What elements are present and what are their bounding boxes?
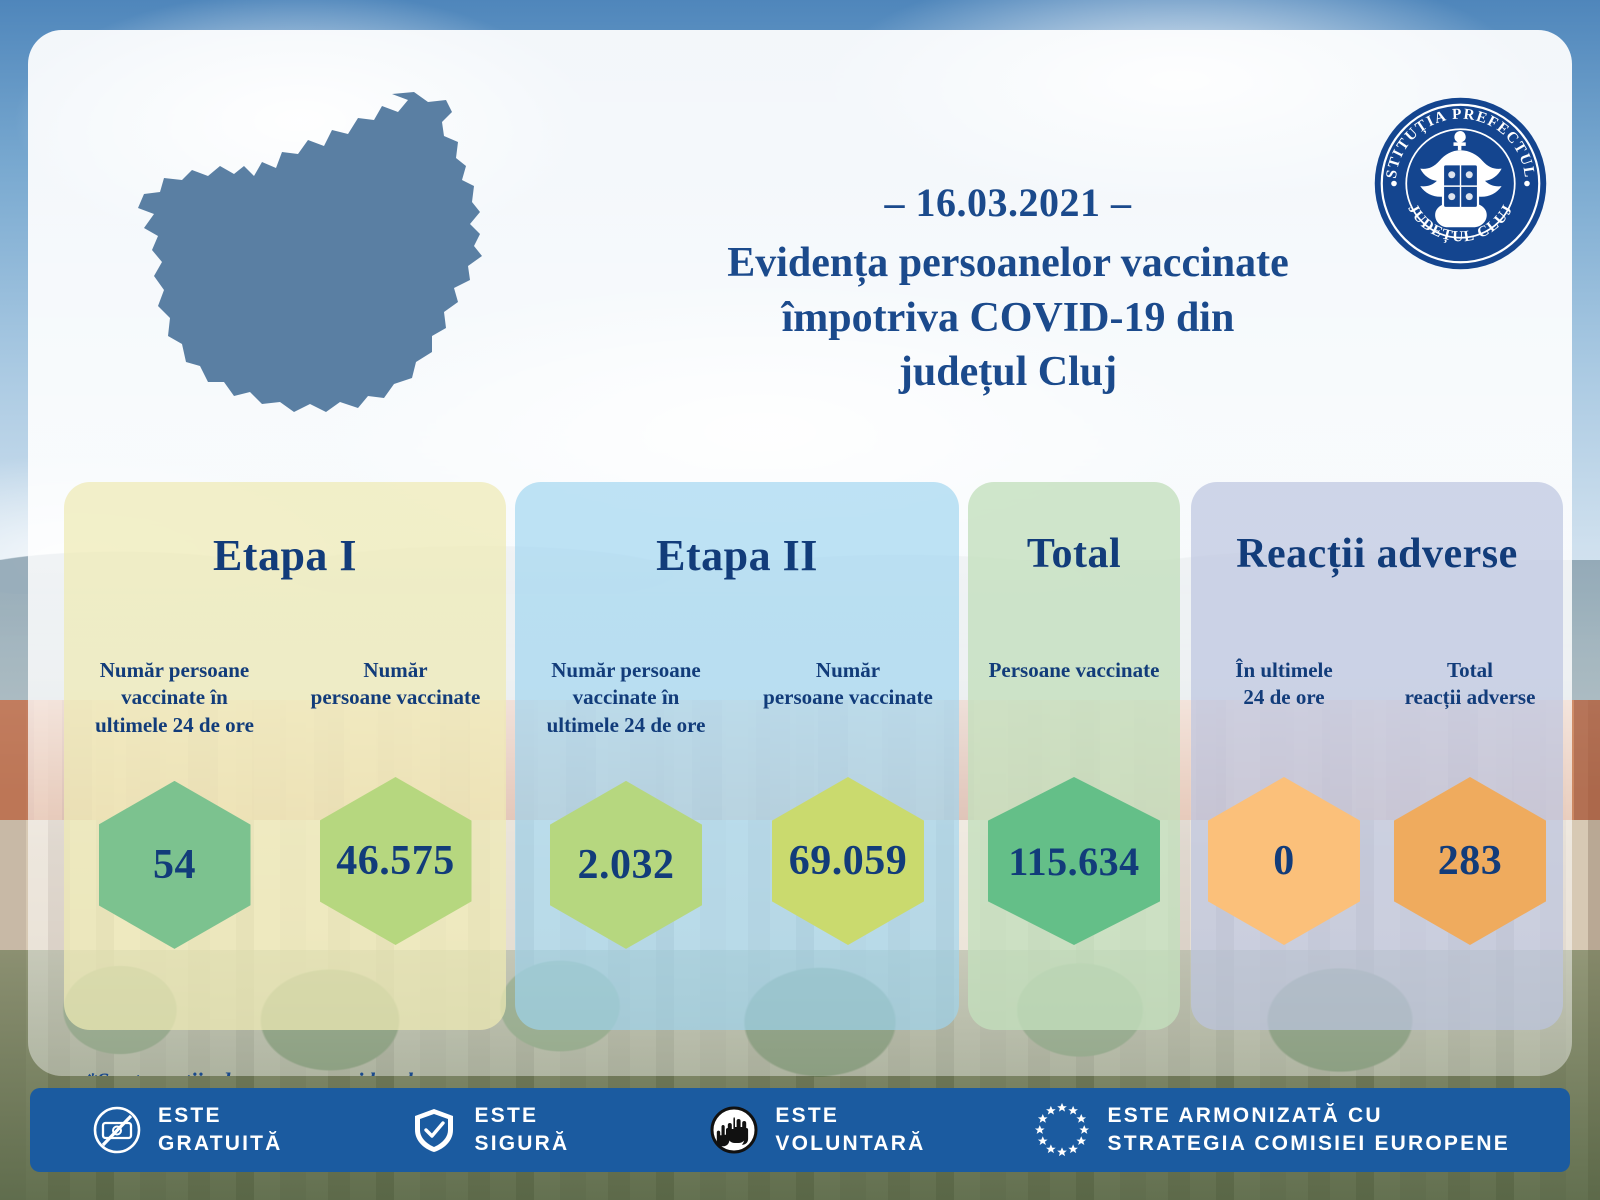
metric: În ultimele 24 de ore 0: [1191, 657, 1377, 945]
card-metrics: În ultimele 24 de ore 0 Total reacții ad…: [1191, 657, 1563, 945]
banner-item-label: ESTE SIGURĂ: [475, 1102, 570, 1159]
card-etapa-1: Etapa I Număr persoane vaccinate în ulti…: [64, 482, 506, 1030]
banner-item-sigura: ESTE SIGURĂ: [409, 1102, 570, 1159]
banknote-crossed-icon: [92, 1105, 142, 1155]
metric-hexagon: 283: [1394, 777, 1546, 945]
metric: Total reacții adverse 283: [1377, 657, 1563, 945]
page-title-line-2: împotriva COVID-19 din: [628, 291, 1388, 346]
title-block: – 16.03.2021 – Evidența persoanelor vacc…: [628, 180, 1388, 400]
banner-item-voluntara: ESTE VOLUNTARĂ: [709, 1102, 925, 1159]
metric-hexagon: 54: [99, 781, 251, 949]
vaccination-facts-banner: ESTE GRATUITĂ ESTE SIGURĂ: [30, 1088, 1570, 1172]
metric-label: Număr persoane vaccinate în ultimele 24 …: [515, 657, 737, 739]
infographic-root: – 16.03.2021 – Evidența persoanelor vacc…: [0, 0, 1600, 1200]
metric-hexagon: 69.059: [772, 777, 924, 945]
metric-value: 69.059: [789, 837, 908, 885]
banner-item-label: ESTE ARMONIZATĂ CU STRATEGIA COMISIEI EU…: [1107, 1102, 1509, 1159]
metric: Număr persoane vaccinate 69.059: [737, 657, 959, 949]
metric-hex-wrap: 69.059: [737, 777, 959, 945]
eu-stars-icon: [1033, 1101, 1091, 1159]
shield-check-icon: [409, 1105, 459, 1155]
card-reactii-adverse: Reacții adverse În ultimele 24 de ore 0 …: [1191, 482, 1563, 1030]
card-metrics: Număr persoane vaccinate în ultimele 24 …: [64, 657, 506, 949]
card-title: Etapa II: [515, 530, 959, 581]
metric: Persoane vaccinate 115.634: [968, 657, 1180, 945]
card-title: Etapa I: [64, 530, 506, 581]
metric: Număr persoane vaccinate 46.575: [285, 657, 506, 949]
metric-value: 54: [153, 841, 196, 889]
page-title-line-1: Evidența persoanelor vaccinate: [628, 236, 1388, 291]
metric: Număr persoane vaccinate în ultimele 24 …: [515, 657, 737, 949]
metric-label: Persoane vaccinate: [968, 657, 1180, 735]
metric-hex-wrap: 283: [1377, 777, 1563, 945]
metric-hex-wrap: 2.032: [515, 781, 737, 949]
metric-label: Număr persoane vaccinate: [737, 657, 959, 735]
metric-hex-wrap: 0: [1191, 777, 1377, 945]
card-total: Total Persoane vaccinate 115.634: [968, 482, 1180, 1030]
metric-hexagon: 115.634: [988, 777, 1160, 945]
card-etapa-2: Etapa II Număr persoane vaccinate în ult…: [515, 482, 959, 1030]
report-date: – 16.03.2021 –: [628, 180, 1388, 226]
card-title: Reacții adverse: [1191, 530, 1563, 578]
banner-item-strategia-europeana: ESTE ARMONIZATĂ CU STRATEGIA COMISIEI EU…: [1033, 1101, 1509, 1159]
card-metrics: Persoane vaccinate 115.634: [968, 657, 1180, 945]
footnote: *Sunt reacții adverse ușoare și locale.: [86, 1068, 428, 1076]
metric-value: 46.575: [336, 837, 455, 885]
metric-hexagon: 2.032: [550, 781, 702, 949]
stat-cards-container: Etapa I Număr persoane vaccinate în ulti…: [28, 482, 1572, 1042]
metric-hex-wrap: 54: [64, 781, 285, 949]
metric-value: 115.634: [1008, 838, 1139, 885]
metric-value: 2.032: [578, 841, 675, 889]
metric-label: Număr persoane vaccinate: [285, 657, 506, 735]
page-title-line-3: județul Cluj: [628, 345, 1388, 400]
banner-item-label: ESTE GRATUITĂ: [158, 1102, 283, 1159]
banner-item-gratuita: ESTE GRATUITĂ: [92, 1102, 283, 1159]
raised-hands-icon: [709, 1105, 759, 1155]
prefecture-seal-logo: INSTITUȚIA PREFECTULUI JUDEȚUL CLUJ: [1373, 96, 1548, 271]
metric-label: Total reacții adverse: [1377, 657, 1563, 735]
card-title: Total: [968, 530, 1180, 578]
metric-value: 0: [1273, 837, 1295, 885]
banner-item-label: ESTE VOLUNTARĂ: [775, 1102, 925, 1159]
content-panel: – 16.03.2021 – Evidența persoanelor vacc…: [28, 30, 1572, 1076]
metric-hexagon: 46.575: [320, 777, 472, 945]
card-metrics: Număr persoane vaccinate în ultimele 24 …: [515, 657, 959, 949]
metric-hex-wrap: 115.634: [968, 777, 1180, 945]
metric-hex-wrap: 46.575: [285, 777, 506, 945]
metric-label: În ultimele 24 de ore: [1191, 657, 1377, 735]
metric: Număr persoane vaccinate în ultimele 24 …: [64, 657, 285, 949]
cluj-county-map-icon: [80, 82, 500, 452]
page-title: Evidența persoanelor vaccinate împotriva…: [628, 236, 1388, 400]
metric-label: Număr persoane vaccinate în ultimele 24 …: [64, 657, 285, 739]
metric-hexagon: 0: [1208, 777, 1360, 945]
metric-value: 283: [1438, 837, 1503, 885]
